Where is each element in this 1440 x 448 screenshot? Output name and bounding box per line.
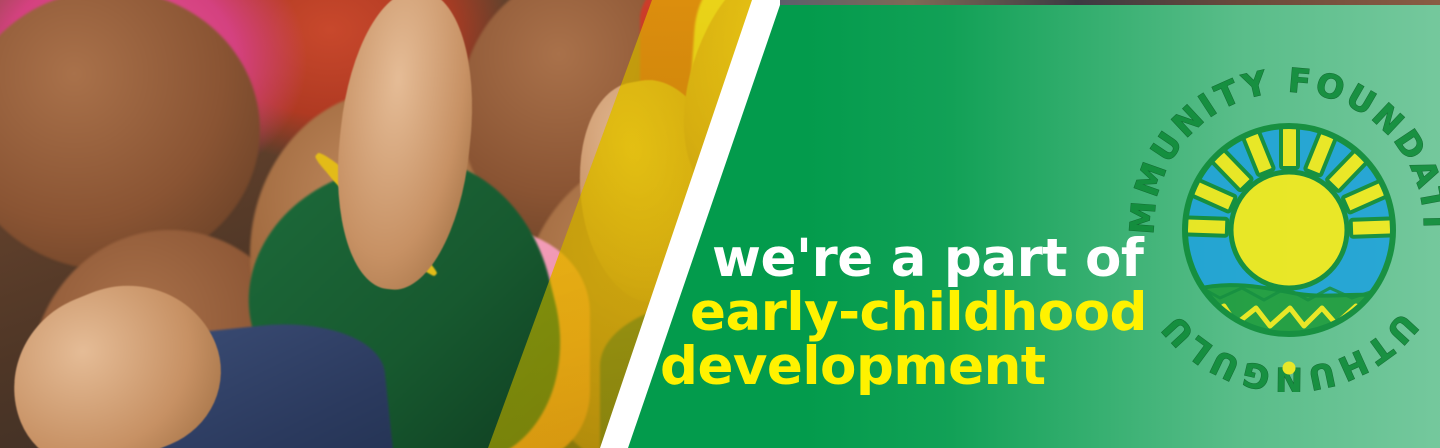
top-photo-strip bbox=[780, 0, 1440, 5]
sun-icon bbox=[1231, 172, 1347, 288]
banner: we're a part of early-childhood developm… bbox=[0, 0, 1440, 448]
logo-separator-dot bbox=[1283, 362, 1296, 375]
uthungulu-community-foundation-logo: COMMUNITY FOUNDATION UTHUNGULU bbox=[1124, 62, 1440, 392]
